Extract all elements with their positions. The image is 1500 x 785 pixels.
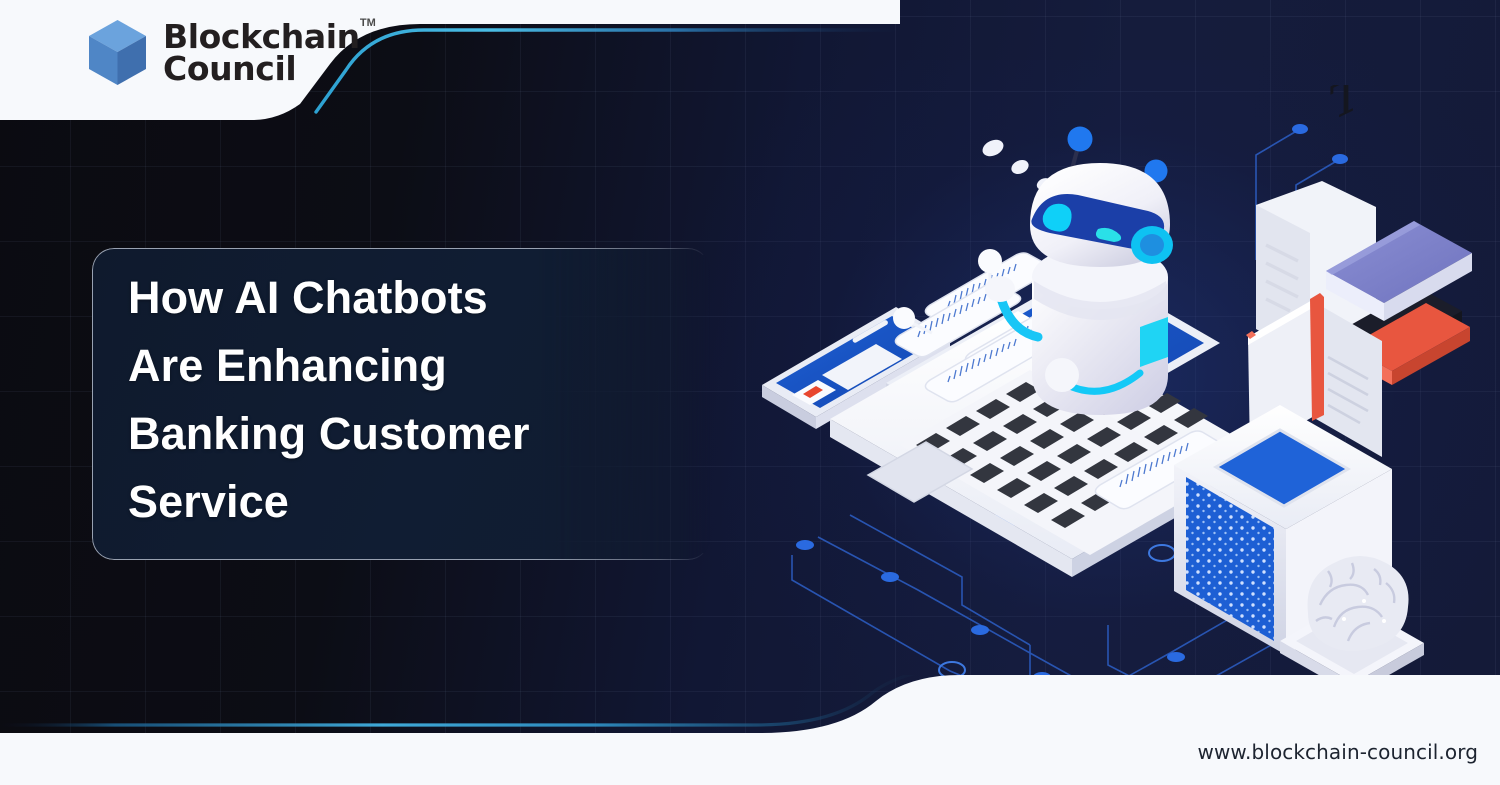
blue-cube-icon xyxy=(86,18,149,88)
robot-thought-dots xyxy=(980,137,1053,193)
document-letter: T xyxy=(1330,85,1362,133)
brand-wordmark: Blockchain Council TM xyxy=(163,21,360,84)
artwork-illustration: T xyxy=(700,85,1500,725)
trademark-symbol: TM xyxy=(360,18,376,29)
page-title: How AI Chatbots Are Enhancing Banking Cu… xyxy=(128,264,688,536)
brain-shape xyxy=(1308,556,1409,651)
website-url[interactable]: www.blockchain-council.org xyxy=(1198,740,1479,764)
brand-logo[interactable]: Blockchain Council TM xyxy=(86,18,360,88)
banner-root: T xyxy=(0,0,1500,785)
brand-line-2: Council xyxy=(163,53,360,85)
